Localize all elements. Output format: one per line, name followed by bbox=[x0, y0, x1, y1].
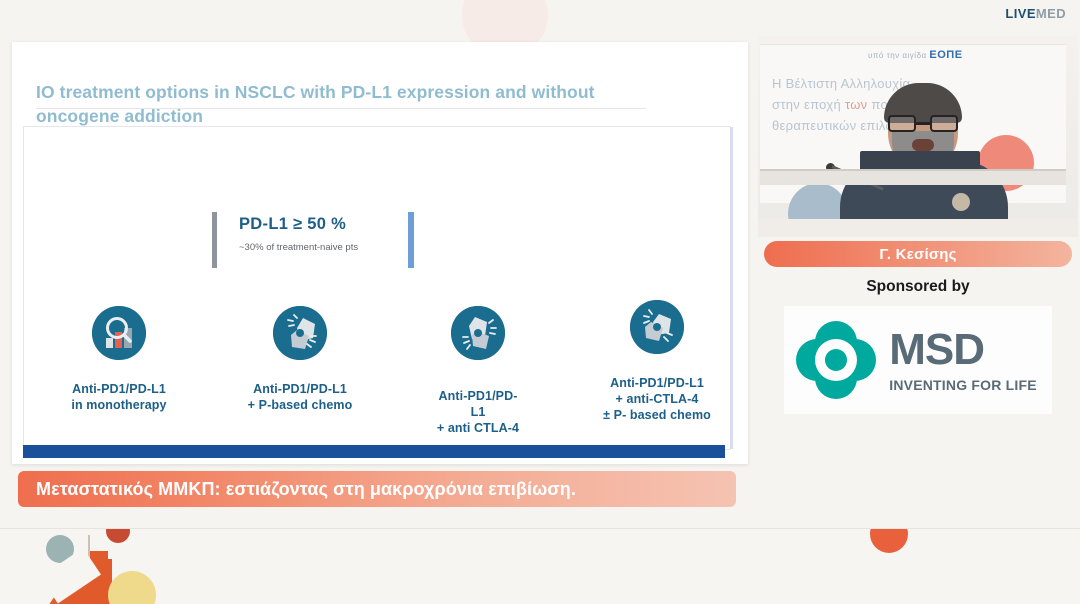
speaker-shirt-logo bbox=[952, 193, 970, 211]
pdl1-callout: PD-L1 ≥ 50 % ~30% of treatment-naive pts bbox=[212, 212, 422, 270]
projection-eope-logo: υπό την αιγίδα ΕΟΠΕ bbox=[868, 49, 963, 61]
option-4-line-3: ± P- based chemo bbox=[584, 407, 730, 423]
livemed-logo-light: MED bbox=[1036, 6, 1066, 21]
magnifier-chart-icon bbox=[92, 306, 146, 360]
pdl1-left-bar bbox=[212, 212, 217, 268]
session-topic-text: Μεταστατικός ΜΜΚΠ: εστιάζοντας στη μακρο… bbox=[36, 479, 576, 500]
card-right-edge bbox=[730, 127, 733, 449]
slide-bottom-bar bbox=[23, 445, 725, 458]
video-projection-screen: υπό την αιγίδα ΕΟΠΕ Η Βέλτιστη Αλληλουχί… bbox=[760, 44, 1066, 203]
presentation-slide[interactable]: IO treatment options in NSCLC with PD-L1… bbox=[12, 42, 748, 464]
glasses-left-lens bbox=[888, 115, 916, 132]
speaker-video[interactable]: υπό την αιγίδα ΕΟΠΕ Η Βέλτιστη Αλληλουχί… bbox=[758, 36, 1078, 237]
puzzle-pieces-icon bbox=[273, 306, 327, 360]
msd-wordmark: MSD bbox=[889, 328, 1037, 372]
speaker-mouth bbox=[912, 139, 934, 151]
speaker-name-badge: Γ. Κεσίσης bbox=[764, 241, 1072, 267]
pdl1-right-bar bbox=[408, 212, 414, 268]
option-4-line-2: + anti-CTLA-4 bbox=[584, 391, 730, 407]
pdl1-subtext: ~30% of treatment-naive pts bbox=[239, 242, 358, 253]
treatment-option-4: Anti-PD1/PD-L1 + anti-CTLA-4 ± P- based … bbox=[584, 300, 730, 423]
footer-deco-circle-yellow bbox=[108, 571, 156, 604]
speaker-name-text: Γ. Κεσίσης bbox=[879, 246, 956, 263]
screen: LIVEMED IO treatment options in NSCLC wi… bbox=[0, 0, 1080, 604]
conference-footer: \\ Διοργάνωση: Ελληνική Εταιρεία Περιοχι… bbox=[0, 528, 1080, 604]
footer-deco-circle-orange bbox=[870, 528, 908, 553]
option-2-line-2: + P-based chemo bbox=[226, 397, 374, 413]
livemed-logo: LIVEMED bbox=[1005, 6, 1066, 21]
podium-desk bbox=[760, 169, 1066, 185]
title-divider bbox=[36, 108, 646, 109]
option-2-line-1: Anti-PD1/PD-L1 bbox=[226, 381, 374, 397]
projection-line-2a: στην εποχή bbox=[772, 97, 845, 112]
slide-title: IO treatment options in NSCLC with PD-L1… bbox=[36, 80, 656, 128]
glasses-right-lens bbox=[930, 115, 958, 132]
sponsor-logo-msd: MSD INVENTING FOR LIFE bbox=[784, 306, 1052, 414]
option-4-line-1: Anti-PD1/PD-L1 bbox=[584, 375, 730, 391]
treatment-option-2: Anti-PD1/PD-L1 + P-based chemo bbox=[226, 306, 374, 413]
treatment-option-3: Anti-PD1/PD- L1 + anti CTLA-4 bbox=[408, 306, 548, 436]
treatment-option-1: Anti-PD1/PD-L1 in monotherapy bbox=[48, 306, 190, 413]
msd-tagline: INVENTING FOR LIFE bbox=[889, 378, 1037, 392]
msd-clover-icon bbox=[799, 323, 873, 397]
treatment-option-4-label: Anti-PD1/PD-L1 + anti-CTLA-4 ± P- based … bbox=[584, 375, 730, 423]
sponsored-by-heading: Sponsored by bbox=[758, 278, 1078, 296]
livemed-logo-bold: LIVE bbox=[1005, 6, 1036, 21]
footer-deco-circle-red bbox=[106, 528, 130, 543]
option-3-line-3: + anti CTLA-4 bbox=[408, 420, 548, 436]
treatment-option-2-label: Anti-PD1/PD-L1 + P-based chemo bbox=[226, 381, 374, 413]
puzzle-pieces-icon bbox=[451, 306, 505, 360]
option-3-line-1: Anti-PD1/PD- bbox=[408, 388, 548, 404]
pdl1-headline: PD-L1 ≥ 50 % bbox=[239, 215, 346, 234]
speaker-glasses bbox=[888, 115, 958, 133]
option-1-line-2: in monotherapy bbox=[48, 397, 190, 413]
treatment-option-3-label: Anti-PD1/PD- L1 + anti CTLA-4 bbox=[408, 388, 548, 436]
option-3-line-2: L1 bbox=[408, 404, 548, 420]
session-topic-banner: Μεταστατικός ΜΜΚΠ: εστιάζοντας στη μακρο… bbox=[18, 471, 736, 507]
projection-eope-pre: υπό την αιγίδα bbox=[868, 51, 927, 60]
projection-eope-mark: ΕΟΠΕ bbox=[929, 49, 962, 61]
puzzle-pieces-icon bbox=[630, 300, 684, 354]
video-lower-strip bbox=[758, 219, 1078, 237]
option-1-line-1: Anti-PD1/PD-L1 bbox=[48, 381, 190, 397]
treatment-option-1-label: Anti-PD1/PD-L1 in monotherapy bbox=[48, 381, 190, 413]
glasses-bridge bbox=[916, 122, 930, 125]
